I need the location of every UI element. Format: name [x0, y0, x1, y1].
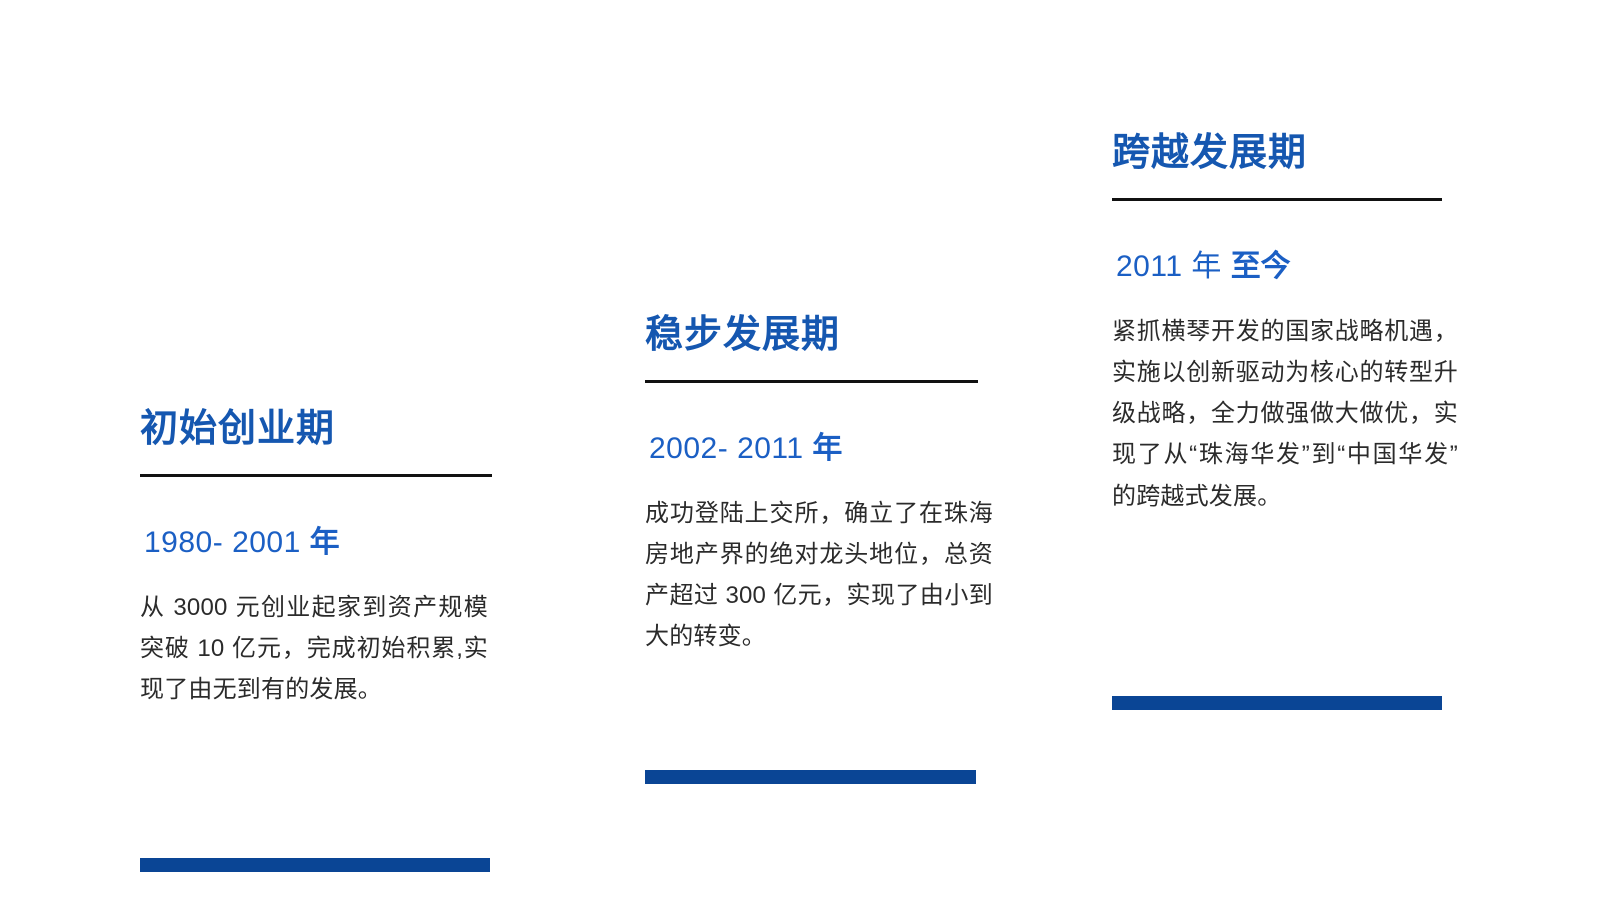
- phase-title-2: 稳步发展期: [645, 314, 978, 358]
- phase-card-3: 跨越发展期 2011 年 至今 紧抓横琴开发的国家战略机遇，实施以创新驱动为核心…: [1112, 132, 1442, 541]
- phase-date-suffix-1: 年: [310, 526, 340, 559]
- phase-date-2: 2002- 2011 年: [649, 423, 978, 467]
- phase-accent-bar-2: [645, 770, 976, 784]
- phase-date-suffix-2: 年: [812, 432, 842, 465]
- phase-date-3: 2011 年 至今: [1116, 241, 1442, 285]
- phase-card-2: 稳步发展期 2002- 2011 年 成功登陆上交所，确立了在珠海房地产界的绝对…: [645, 314, 978, 682]
- phase-date-range-3: 2011 年: [1116, 250, 1231, 283]
- phase-title-1: 初始创业期: [140, 408, 492, 452]
- phase-card-1: 初始创业期 1980- 2001 年 从 3000 元创业起家到资产规模突破 1…: [140, 408, 492, 734]
- phase-date-1: 1980- 2001 年: [144, 517, 492, 561]
- phase-description-2: 成功登陆上交所，确立了在珠海房地产界的绝对龙头地位，总资产超过 300 亿元，实…: [645, 493, 993, 658]
- phase-divider-1: [140, 474, 492, 477]
- phase-description-3: 紧抓横琴开发的国家战略机遇，实施以创新驱动为核心的转型升级战略，全力做强做大做优…: [1112, 311, 1458, 517]
- phase-accent-bar-3: [1112, 696, 1442, 710]
- phase-accent-bar-1: [140, 858, 490, 872]
- phase-divider-2: [645, 380, 978, 383]
- phase-description-1: 从 3000 元创业起家到资产规模突破 10 亿元，完成初始积累,实现了由无到有…: [140, 587, 488, 711]
- phase-divider-3: [1112, 198, 1442, 201]
- phase-date-suffix-3: 至今: [1231, 250, 1291, 283]
- phase-date-range-1: 1980- 2001: [144, 526, 310, 559]
- phase-title-3: 跨越发展期: [1112, 132, 1442, 176]
- phase-date-range-2: 2002- 2011: [649, 432, 812, 465]
- timeline-canvas: 初始创业期 1980- 2001 年 从 3000 元创业起家到资产规模突破 1…: [0, 0, 1600, 903]
